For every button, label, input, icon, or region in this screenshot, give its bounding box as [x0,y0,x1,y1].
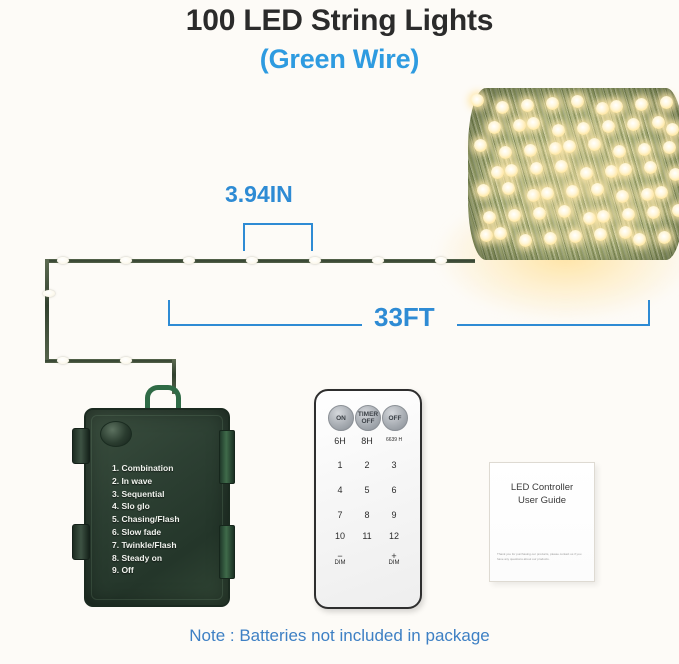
light-mode-item: 9. Off [112,564,180,577]
coil-bulb [491,166,504,179]
remote-key-dim-down[interactable]: − DIM [327,553,353,567]
coil-bulb [563,140,576,153]
strand-bulb [372,257,384,264]
coil-bulb [641,188,654,201]
coil-bulb [647,206,660,219]
strand-bulb [435,257,447,264]
coil-bulb [652,116,665,129]
remote-key-8[interactable]: 8 [354,510,380,520]
coil-bulb [508,209,521,222]
wire-segment-left [45,259,49,363]
remote-button-timer-off[interactable]: TIMER OFF [355,405,381,431]
battery-box: 1. Combination2. In wave3. Sequential4. … [84,408,230,607]
spacing-bracket [243,223,313,251]
dim-down-sign: − [327,553,353,560]
coil-bulb [655,186,668,199]
coil-bulb [596,102,609,115]
coil-bulb [591,183,604,196]
coil-bulb [569,230,582,243]
page-subtitle: (Green Wire) [0,44,679,75]
remote-key-1[interactable]: 1 [327,460,353,470]
coil-bulb [555,160,568,173]
coil-bulb [635,98,648,111]
coil-bulb [571,95,584,108]
strand-bulb [43,290,55,297]
coil-bulb [619,163,632,176]
strand-bulb [309,257,321,264]
coil-bulb [663,141,676,154]
remote-key-3[interactable]: 3 [381,460,407,470]
strand-bulb [120,257,132,264]
light-mode-item: 4. Slo glo [112,500,180,513]
coil-bulb [627,118,640,131]
dim-up-sign: + [381,553,407,560]
coil-bulb [519,234,532,247]
coil-bulb [496,101,509,114]
strand-bulb [183,257,195,264]
coil-bulb [610,100,623,113]
coil-bulb [588,138,601,151]
coil-bulb [619,226,632,239]
light-mode-item: 8. Steady on [112,552,180,565]
coil-bulb [658,231,671,244]
coil-bulb [552,124,565,137]
strand-bulb [57,257,69,264]
coil-bulb [474,139,487,152]
remote-key-dim-up[interactable]: + DIM [381,553,407,567]
coil-bulb [533,207,546,220]
coil-bulb [597,210,610,223]
coil-bulb [546,97,559,110]
coil-bulb [583,212,596,225]
coil-bulb [644,161,657,174]
remote-key-8h[interactable]: 8H [354,436,380,446]
coil-bulb [613,145,626,158]
coil-bulb [549,142,562,155]
remote-button-on[interactable]: ON [328,405,354,431]
guide-title: LED Controller User Guide [490,481,594,507]
light-mode-item: 3. Sequential [112,488,180,501]
coil-bulb [527,117,540,130]
remote-key-5[interactable]: 5 [354,485,380,495]
length-bracket-left [168,300,362,326]
coil-bulb [566,185,579,198]
coil-bulb [594,228,607,241]
light-mode-list: 1. Combination2. In wave3. Sequential4. … [112,462,180,577]
coil-bulb [602,120,615,133]
coil-bulb [672,204,679,217]
remote-key-6[interactable]: 6 [381,485,407,495]
coil-bulb [633,233,646,246]
port-top-right [219,430,235,484]
coil-bulb [494,227,507,240]
light-mode-item: 5. Chasing/Flash [112,513,180,526]
light-mode-item: 6. Slow fade [112,526,180,539]
guide-footer-text: Thank you for purchasing our products, p… [497,552,587,561]
strand-bulb [120,357,132,364]
coil-bulb [499,146,512,159]
coil-bulb [524,144,537,157]
remote-key-2[interactable]: 2 [354,460,380,470]
remote-key-12[interactable]: 12 [381,531,407,541]
coil-bulb [669,168,679,181]
mode-button-icon[interactable] [100,421,132,447]
remote-key-9[interactable]: 9 [381,510,407,520]
remote-key-11[interactable]: 11 [354,531,380,541]
dim-down-label: DIM [335,560,346,566]
remote-key-7[interactable]: 7 [327,510,353,520]
coil-bulb [471,94,484,107]
remote-key-6h[interactable]: 6H [327,436,353,446]
coil-bulb [530,162,543,175]
remote-button-off[interactable]: OFF [382,405,408,431]
light-mode-item: 1. Combination [112,462,180,475]
remote-control: ON TIMER OFF OFF 6H 8H 6639 H 1234567891… [314,389,422,609]
length-dimension-label: 33FT [374,302,435,333]
coil-bulb [505,164,518,177]
light-mode-item: 7. Twinkle/Flash [112,539,180,552]
guide-title-line2: User Guide [490,494,594,507]
spacing-dimension-label: 3.94IN [225,181,293,208]
coil-bulb [521,99,534,112]
coil-bulb [544,232,557,245]
strand-bulb [57,357,69,364]
guide-title-line1: LED Controller [490,481,594,494]
length-bracket-right [457,300,650,326]
coil-bulb [616,190,629,203]
strand-bulb [246,257,258,264]
wire-segment-top [45,259,475,263]
led-coil-image [452,80,679,275]
coil-bulb [622,208,635,221]
coil-bulb [666,123,679,136]
coil-bulb [577,122,590,135]
coil-bulb [527,189,540,202]
coil-bulb [483,211,496,224]
coil-bulb [488,121,501,134]
footer-note: Note : Batteries not included in package [0,626,679,646]
coil-bulb [660,96,673,109]
coil-bulb [480,229,493,242]
coil-bulb [477,184,490,197]
remote-key-10[interactable]: 10 [327,531,353,541]
remote-key-4[interactable]: 4 [327,485,353,495]
user-guide-booklet: LED Controller User Guide Thank you for … [489,462,595,582]
infographic-canvas: 100 LED String Lights (Green Wire) 3.94I… [0,0,679,664]
light-mode-item: 2. In wave [112,475,180,488]
coil-bulb [513,119,526,132]
coil-bulb [638,143,651,156]
coil-bulb [541,187,554,200]
coil-bulb [558,205,571,218]
coil-bulb [605,165,618,178]
latch-top-left [72,428,90,464]
remote-key-6639h[interactable]: 6639 H [381,437,407,443]
coil-bulb [580,167,593,180]
dim-up-label: DIM [389,560,400,566]
latch-bottom-left [72,524,90,560]
page-title: 100 LED String Lights [0,4,679,38]
coil-bulb [502,182,515,195]
port-bottom-right [219,525,235,579]
